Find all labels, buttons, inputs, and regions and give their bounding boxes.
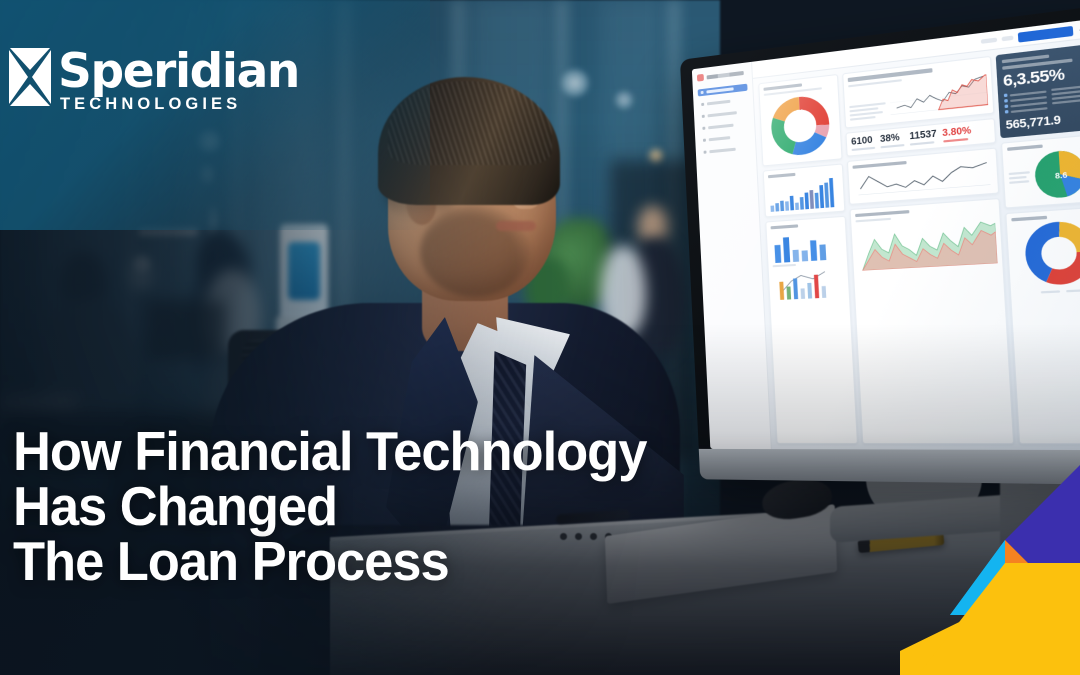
bar-chart-revenue-mix	[773, 265, 845, 300]
grid-icon	[701, 91, 704, 94]
donut-chart-assets	[769, 93, 832, 159]
dashboard-screen[interactable]: ▲ ⌵	[692, 18, 1080, 451]
bar-chart-revenue	[771, 228, 843, 264]
chart-icon	[702, 127, 705, 130]
kpi-applications: 11537	[909, 129, 937, 146]
headline-line-1: How Financial Technology	[13, 424, 646, 479]
topbar-link-1[interactable]	[981, 38, 997, 44]
pie-chart-forecast: 8.6	[1032, 147, 1080, 200]
sidebar-item-analytics[interactable]	[699, 120, 749, 132]
headline-line-2: Has Changed	[13, 479, 646, 534]
sidebar-item-overview[interactable]	[698, 84, 748, 97]
gear-icon	[704, 151, 707, 154]
corner-triangles-decoration-icon	[900, 435, 1080, 675]
card-forecast[interactable]: 8.6	[1001, 133, 1080, 208]
dashboard-brand	[697, 69, 747, 82]
sidebar-item-portfolio[interactable]	[699, 108, 749, 120]
kpi-accounts: 6100	[851, 135, 875, 151]
card-composition[interactable]	[1005, 206, 1080, 445]
app-logo-icon	[697, 74, 704, 82]
area-chart-performance	[856, 215, 998, 271]
topbar-link-2[interactable]	[1002, 36, 1014, 42]
hero-banner: ▲ ⌵	[0, 0, 1080, 675]
card-revenue[interactable]	[765, 216, 858, 444]
sidebar-item-settings[interactable]	[701, 144, 751, 156]
folder-icon	[702, 115, 705, 118]
area-chart-lending	[889, 74, 988, 119]
card-analysis[interactable]	[847, 147, 999, 204]
bar-chart-volume	[768, 175, 840, 212]
dashboard-brand-label	[707, 70, 744, 79]
document-icon	[703, 139, 706, 142]
new-report-button[interactable]	[1018, 25, 1074, 42]
sidebar-item-reports[interactable]	[700, 132, 750, 144]
desktop-monitor: ▲ ⌵	[680, 4, 1080, 485]
headline-line-3: The Loan Process	[13, 534, 646, 589]
sidebar-item-accounts[interactable]	[698, 96, 748, 109]
card-assets[interactable]	[758, 74, 842, 167]
logo-brand-name: Speridian	[58, 50, 299, 93]
card-volume[interactable]	[763, 163, 846, 217]
speridian-logo[interactable]: Speridian TECHNOLOGIES	[6, 44, 299, 114]
svg-text:8.6: 8.6	[1055, 171, 1068, 181]
donut-chart-composition	[1024, 220, 1080, 287]
card-performance[interactable]	[850, 198, 1015, 444]
user-icon	[701, 103, 704, 106]
page-title: How Financial Technology Has Changed The…	[13, 424, 646, 589]
card-lending-monthly-review[interactable]	[842, 56, 994, 129]
kpi-default-rate: 3.80%	[942, 126, 972, 143]
speridian-hexagon-logo-icon	[6, 44, 54, 110]
card-growth-kpi[interactable]: 6,3.55%	[996, 43, 1080, 138]
kpi-approved: 38%	[880, 132, 905, 148]
